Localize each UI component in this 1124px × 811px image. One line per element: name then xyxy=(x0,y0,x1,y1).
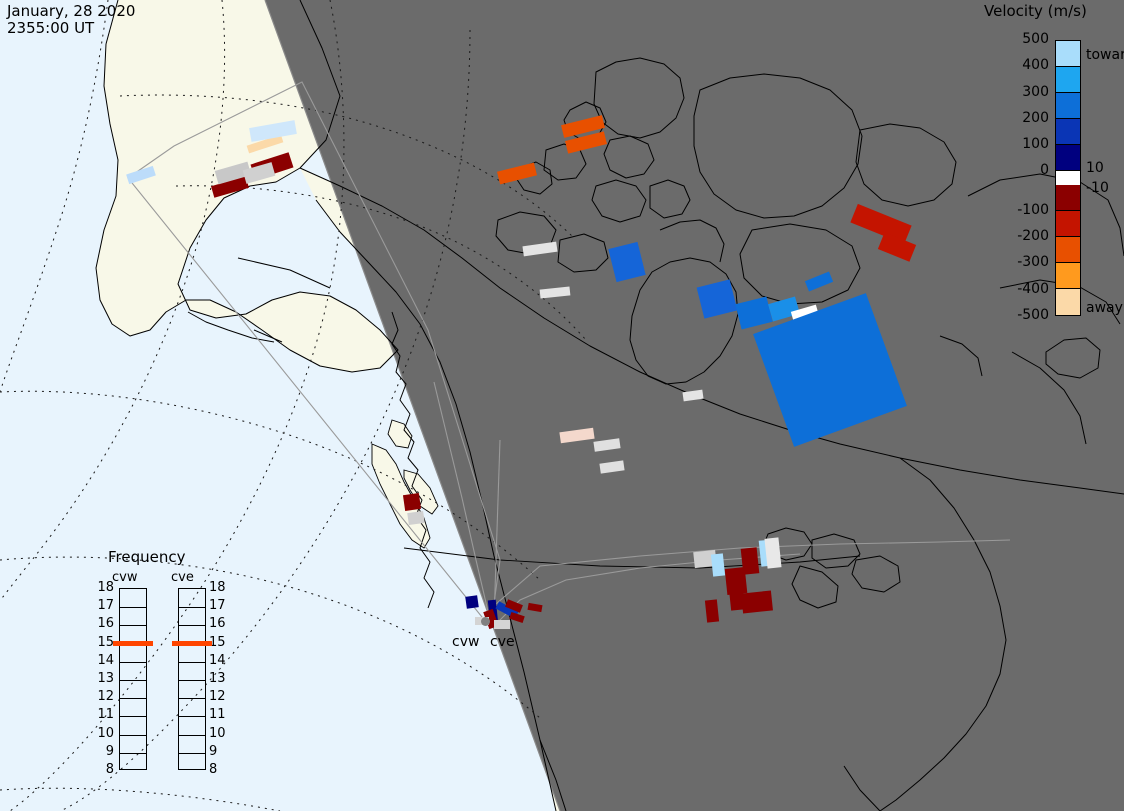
colorbar-title: Velocity (m/s) xyxy=(984,2,1087,20)
colorbar-band--350 xyxy=(1056,263,1080,289)
colorbar-tick-100: 100 xyxy=(997,136,1049,152)
radar-label-cvw: cvw xyxy=(452,634,479,650)
frequency-label-right-12: 12 xyxy=(209,689,231,704)
frequency-column-header-cvw: cvw xyxy=(112,570,137,585)
frequency-gridline xyxy=(179,625,205,626)
time-label: 2355:00 UT xyxy=(7,19,94,37)
frequency-label-left-18: 18 xyxy=(92,580,114,595)
colorbar-tick-0: 0 xyxy=(997,162,1049,178)
frequency-label-right-11: 11 xyxy=(209,707,231,722)
colorbar-band--150 xyxy=(1056,211,1080,237)
velocity-colorbar[interactable] xyxy=(1055,40,1081,316)
frequency-label-right-8: 8 xyxy=(209,762,231,777)
colorbar-away-label: away xyxy=(1086,300,1123,316)
frequency-label-right-10: 10 xyxy=(209,726,231,741)
colorbar-tick-300: 300 xyxy=(997,84,1049,100)
colorbar-band-150 xyxy=(1056,119,1080,145)
frequency-label-right-14: 14 xyxy=(209,653,231,668)
colorbar-tick--100: -100 xyxy=(997,202,1049,218)
colorbar-tick-500: 500 xyxy=(997,31,1049,47)
ground-scatter-cell[interactable] xyxy=(407,511,425,525)
frequency-label-right-9: 9 xyxy=(209,744,231,759)
colorbar-band-250 xyxy=(1056,93,1080,119)
frequency-label-right-15: 15 xyxy=(209,635,231,650)
frequency-label-left-11: 11 xyxy=(92,707,114,722)
colorbar-zero-lower-label: -10 xyxy=(1086,180,1109,196)
colorbar-band--450 xyxy=(1056,289,1080,315)
frequency-gridline xyxy=(120,716,146,717)
colorbar-toward-label: toward xyxy=(1086,47,1124,63)
frequency-label-left-10: 10 xyxy=(92,726,114,741)
frequency-label-left-16: 16 xyxy=(92,616,114,631)
map-canvas[interactable] xyxy=(0,0,1124,811)
velocity-cell[interactable] xyxy=(465,595,479,609)
frequency-label-left-17: 17 xyxy=(92,598,114,613)
colorbar-tick--300: -300 xyxy=(997,254,1049,270)
frequency-label-left-15: 15 xyxy=(92,635,114,650)
frequency-marker-cve xyxy=(172,641,212,646)
frequency-gridline xyxy=(179,753,205,754)
frequency-gridline xyxy=(120,680,146,681)
velocity-cell[interactable] xyxy=(403,493,421,511)
frequency-gridline xyxy=(179,607,205,608)
frequency-gridline xyxy=(120,607,146,608)
colorbar-band--250 xyxy=(1056,237,1080,263)
colorbar-tick-400: 400 xyxy=(997,57,1049,73)
frequency-label-left-12: 12 xyxy=(92,689,114,704)
velocity-cell[interactable] xyxy=(711,553,725,576)
colorbar-band-450 xyxy=(1056,41,1080,67)
frequency-gridline xyxy=(179,662,205,663)
frequency-legend-title: Frequency xyxy=(108,548,186,566)
frequency-gridline xyxy=(179,735,205,736)
colorbar-band-50 xyxy=(1056,145,1080,171)
frequency-gridline xyxy=(120,698,146,699)
frequency-gridline xyxy=(179,680,205,681)
colorbar-tick--500: -500 xyxy=(997,307,1049,323)
radar-velocity-map: January, 28 20202355:00 UT Velocity (m/s… xyxy=(0,0,1124,811)
radar-label-cve: cve xyxy=(490,634,515,650)
colorbar-tick--400: -400 xyxy=(997,281,1049,297)
frequency-gridline xyxy=(179,716,205,717)
frequency-marker-cvw xyxy=(113,641,153,646)
frequency-bar-cve[interactable] xyxy=(178,588,206,770)
frequency-gridline xyxy=(120,662,146,663)
colorbar-tick--200: -200 xyxy=(997,228,1049,244)
frequency-label-right-13: 13 xyxy=(209,671,231,686)
frequency-label-left-9: 9 xyxy=(92,744,114,759)
ground-scatter-cell[interactable] xyxy=(494,620,510,629)
frequency-label-right-17: 17 xyxy=(209,598,231,613)
colorbar-band-0 xyxy=(1056,171,1080,184)
frequency-label-left-13: 13 xyxy=(92,671,114,686)
frequency-label-right-18: 18 xyxy=(209,580,231,595)
colorbar-band--50 xyxy=(1056,185,1080,211)
velocity-cell[interactable] xyxy=(741,590,773,613)
frequency-label-left-14: 14 xyxy=(92,653,114,668)
frequency-gridline xyxy=(120,753,146,754)
colorbar-zero-upper-label: 10 xyxy=(1086,160,1104,176)
colorbar-tick-200: 200 xyxy=(997,110,1049,126)
velocity-cell[interactable] xyxy=(705,599,719,622)
radar-site-dot[interactable] xyxy=(481,617,490,626)
timestamp: January, 28 20202355:00 UT xyxy=(7,3,135,37)
frequency-column-header-cve: cve xyxy=(171,570,194,585)
frequency-bar-cvw[interactable] xyxy=(119,588,147,770)
date-label: January, 28 2020 xyxy=(7,2,135,20)
frequency-gridline xyxy=(179,698,205,699)
frequency-gridline xyxy=(120,735,146,736)
colorbar-band-350 xyxy=(1056,67,1080,93)
frequency-gridline xyxy=(120,625,146,626)
frequency-label-left-8: 8 xyxy=(92,762,114,777)
frequency-label-right-16: 16 xyxy=(209,616,231,631)
